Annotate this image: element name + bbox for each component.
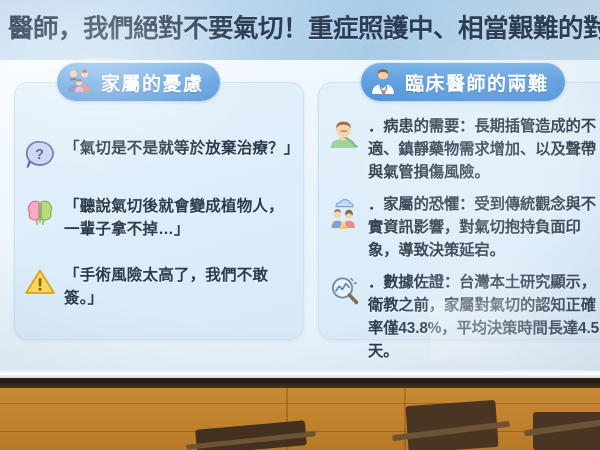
doctor-icon	[368, 67, 398, 97]
list-item-text: ．數據佐證：台灣本土研究顯示，衛教之前，家屬對氣切的認知正確率僅43.8%，平均…	[368, 271, 600, 363]
list-item: ．家屬的恐懼：受到傳統觀念與不實資訊影響，對氣切抱持負面印象，導致決策延宕。	[319, 193, 600, 262]
list-item-text: 「聽說氣切後就會變成植物人，一輩子拿不掉…」	[64, 195, 293, 241]
wood-seam	[0, 403, 600, 404]
list-item-text: 「氣切是不是就等於放棄治療？」	[64, 137, 293, 160]
panel-family-concerns: 家屬的憂慮 ? 「氣切是不是就等於放棄治療？」	[14, 82, 304, 340]
list-item: ? 「氣切是不是就等於放棄治療？」	[15, 137, 303, 172]
list-item: 「手術風險太高了，我們不敢簽。」	[15, 264, 303, 310]
panel-clinician-dilemma: 臨床醫師的兩難 ．病患的需要：長期插管造成的不適、鎮靜藥物需求增加、以及聲帶與氣…	[318, 82, 600, 340]
brain-icon	[23, 196, 57, 230]
family-icon	[64, 67, 94, 97]
warning-triangle-icon	[23, 265, 57, 299]
patient-with-tube-icon	[327, 118, 361, 152]
photographed-slide: 醫師，我們絕對不要氣切！重症照護中、相當艱難的對話 家屬的憂慮	[0, 0, 600, 450]
magnifier-chart-icon	[327, 274, 361, 308]
panel-header-clinician-dilemma: 臨床醫師的兩難	[361, 63, 565, 101]
list-item: ．數據佐證：台灣本土研究顯示，衛教之前，家屬對氣切的認知正確率僅43.8%，平均…	[319, 271, 600, 363]
panel-header-label: 家屬的憂慮	[101, 69, 204, 96]
clinician-dilemma-list: ．病患的需要：長期插管造成的不適、鎮靜藥物需求增加、以及聲帶與氣管損傷風險。	[319, 115, 600, 372]
slide-title-band: 醫師，我們絕對不要氣切！重症照護中、相當艱難的對話	[0, 0, 600, 60]
list-item: ．病患的需要：長期插管造成的不適、鎮靜藥物需求增加、以及聲帶與氣管損傷風險。	[319, 115, 600, 184]
family-worry-cloud-icon	[327, 196, 361, 230]
list-item-text: ．病患的需要：長期插管造成的不適、鎮靜藥物需求增加、以及聲帶與氣管損傷風險。	[368, 115, 600, 184]
screen-frame-edge	[0, 370, 600, 378]
panel-header-label: 臨床醫師的兩難	[405, 69, 549, 96]
family-concerns-list: ? 「氣切是不是就等於放棄治療？」 「聽說氣切後就會變成植物人，一輩子拿不掉…」	[15, 119, 303, 333]
presentation-slide: 醫師，我們絕對不要氣切！重症照護中、相當艱難的對話 家屬的憂慮	[0, 0, 600, 378]
panel-header-family-concerns: 家屬的憂慮	[57, 63, 220, 101]
list-item-text: 「手術風險太高了，我們不敢簽。」	[64, 264, 293, 310]
question-speech-bubble-icon: ?	[23, 138, 57, 172]
list-item-text: ．家屬的恐懼：受到傳統觀念與不實資訊影響，對氣切抱持負面印象，導致決策延宕。	[368, 193, 600, 262]
list-item: 「聽說氣切後就會變成植物人，一輩子拿不掉…」	[15, 195, 303, 241]
page-title: 醫師，我們絕對不要氣切！重症照護中、相當艱難的對話	[8, 12, 600, 46]
svg-text:?: ?	[35, 147, 44, 163]
